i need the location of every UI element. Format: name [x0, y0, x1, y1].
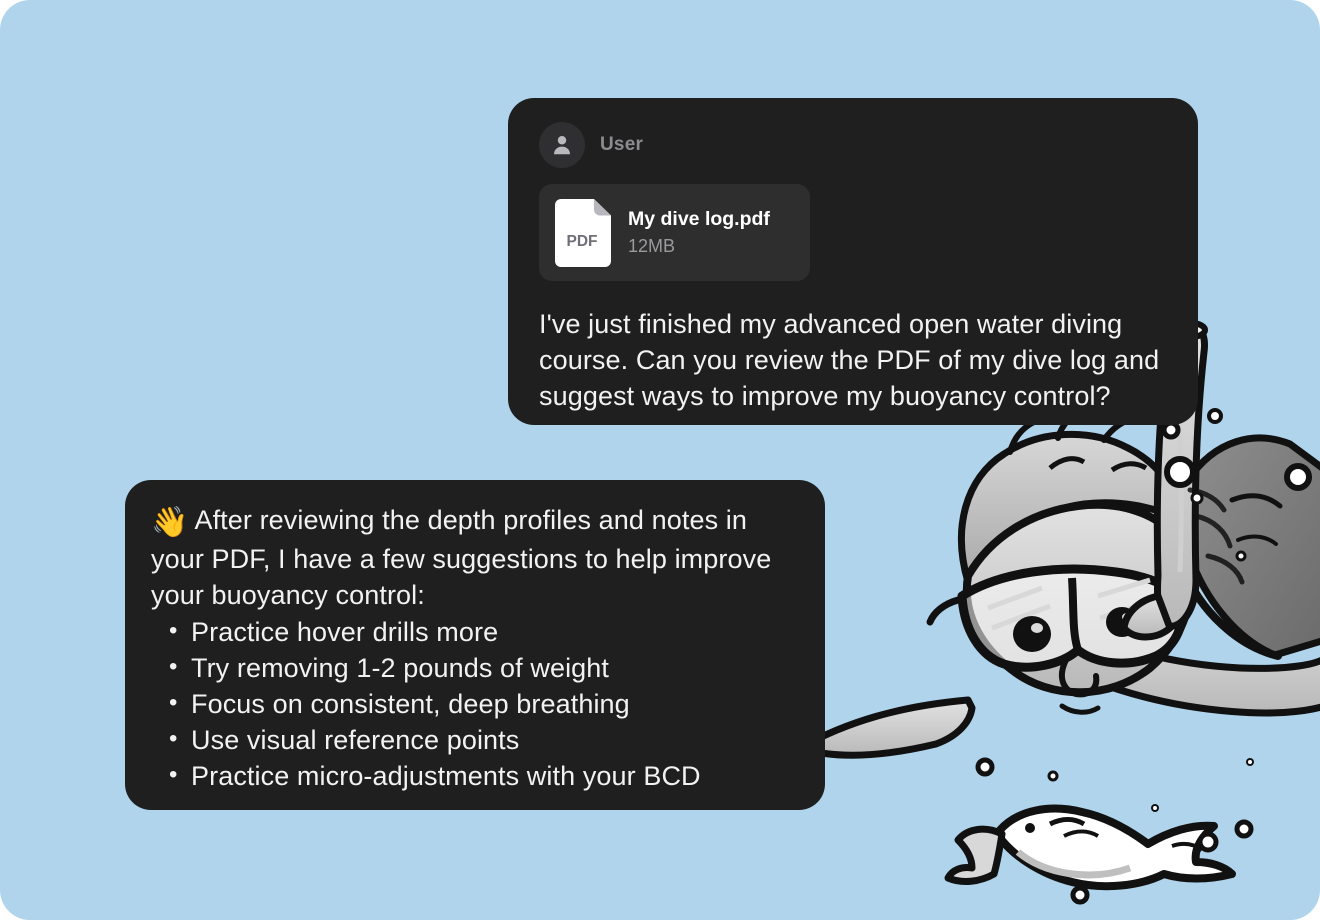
- user-message-bubble: User PDF My dive log.pdf 12MB I've just …: [508, 98, 1198, 425]
- attachment-filename: My dive log.pdf: [628, 208, 770, 231]
- user-avatar-icon: [539, 122, 585, 168]
- pdf-file-icon: PDF: [555, 199, 611, 267]
- app-canvas: User PDF My dive log.pdf 12MB I've just …: [0, 0, 1320, 920]
- chat-thread: User PDF My dive log.pdf 12MB I've just …: [0, 0, 1320, 920]
- assistant-message-intro: 👋After reviewing the depth profiles and …: [151, 502, 799, 613]
- list-item: Focus on consistent, deep breathing: [191, 686, 799, 722]
- assistant-intro-text: After reviewing the depth profiles and n…: [151, 505, 771, 610]
- waving-hand-icon: 👋: [151, 506, 188, 539]
- list-item: Use visual reference points: [191, 722, 799, 758]
- assistant-message-bubble: 👋After reviewing the depth profiles and …: [125, 480, 825, 810]
- svg-text:PDF: PDF: [567, 233, 598, 250]
- user-message-header: User: [539, 122, 1170, 168]
- attachment-filesize: 12MB: [628, 236, 770, 257]
- message-author-label: User: [600, 134, 643, 156]
- suggestion-list: Practice hover drills more Try removing …: [151, 614, 799, 794]
- pdf-attachment-card[interactable]: PDF My dive log.pdf 12MB: [539, 184, 810, 281]
- list-item: Practice hover drills more: [191, 614, 799, 650]
- list-item: Practice micro-adjustments with your BCD: [191, 758, 799, 794]
- list-item: Try removing 1-2 pounds of weight: [191, 650, 799, 686]
- user-message-text: I've just finished my advanced open wate…: [539, 306, 1170, 414]
- attachment-meta: My dive log.pdf 12MB: [628, 208, 770, 257]
